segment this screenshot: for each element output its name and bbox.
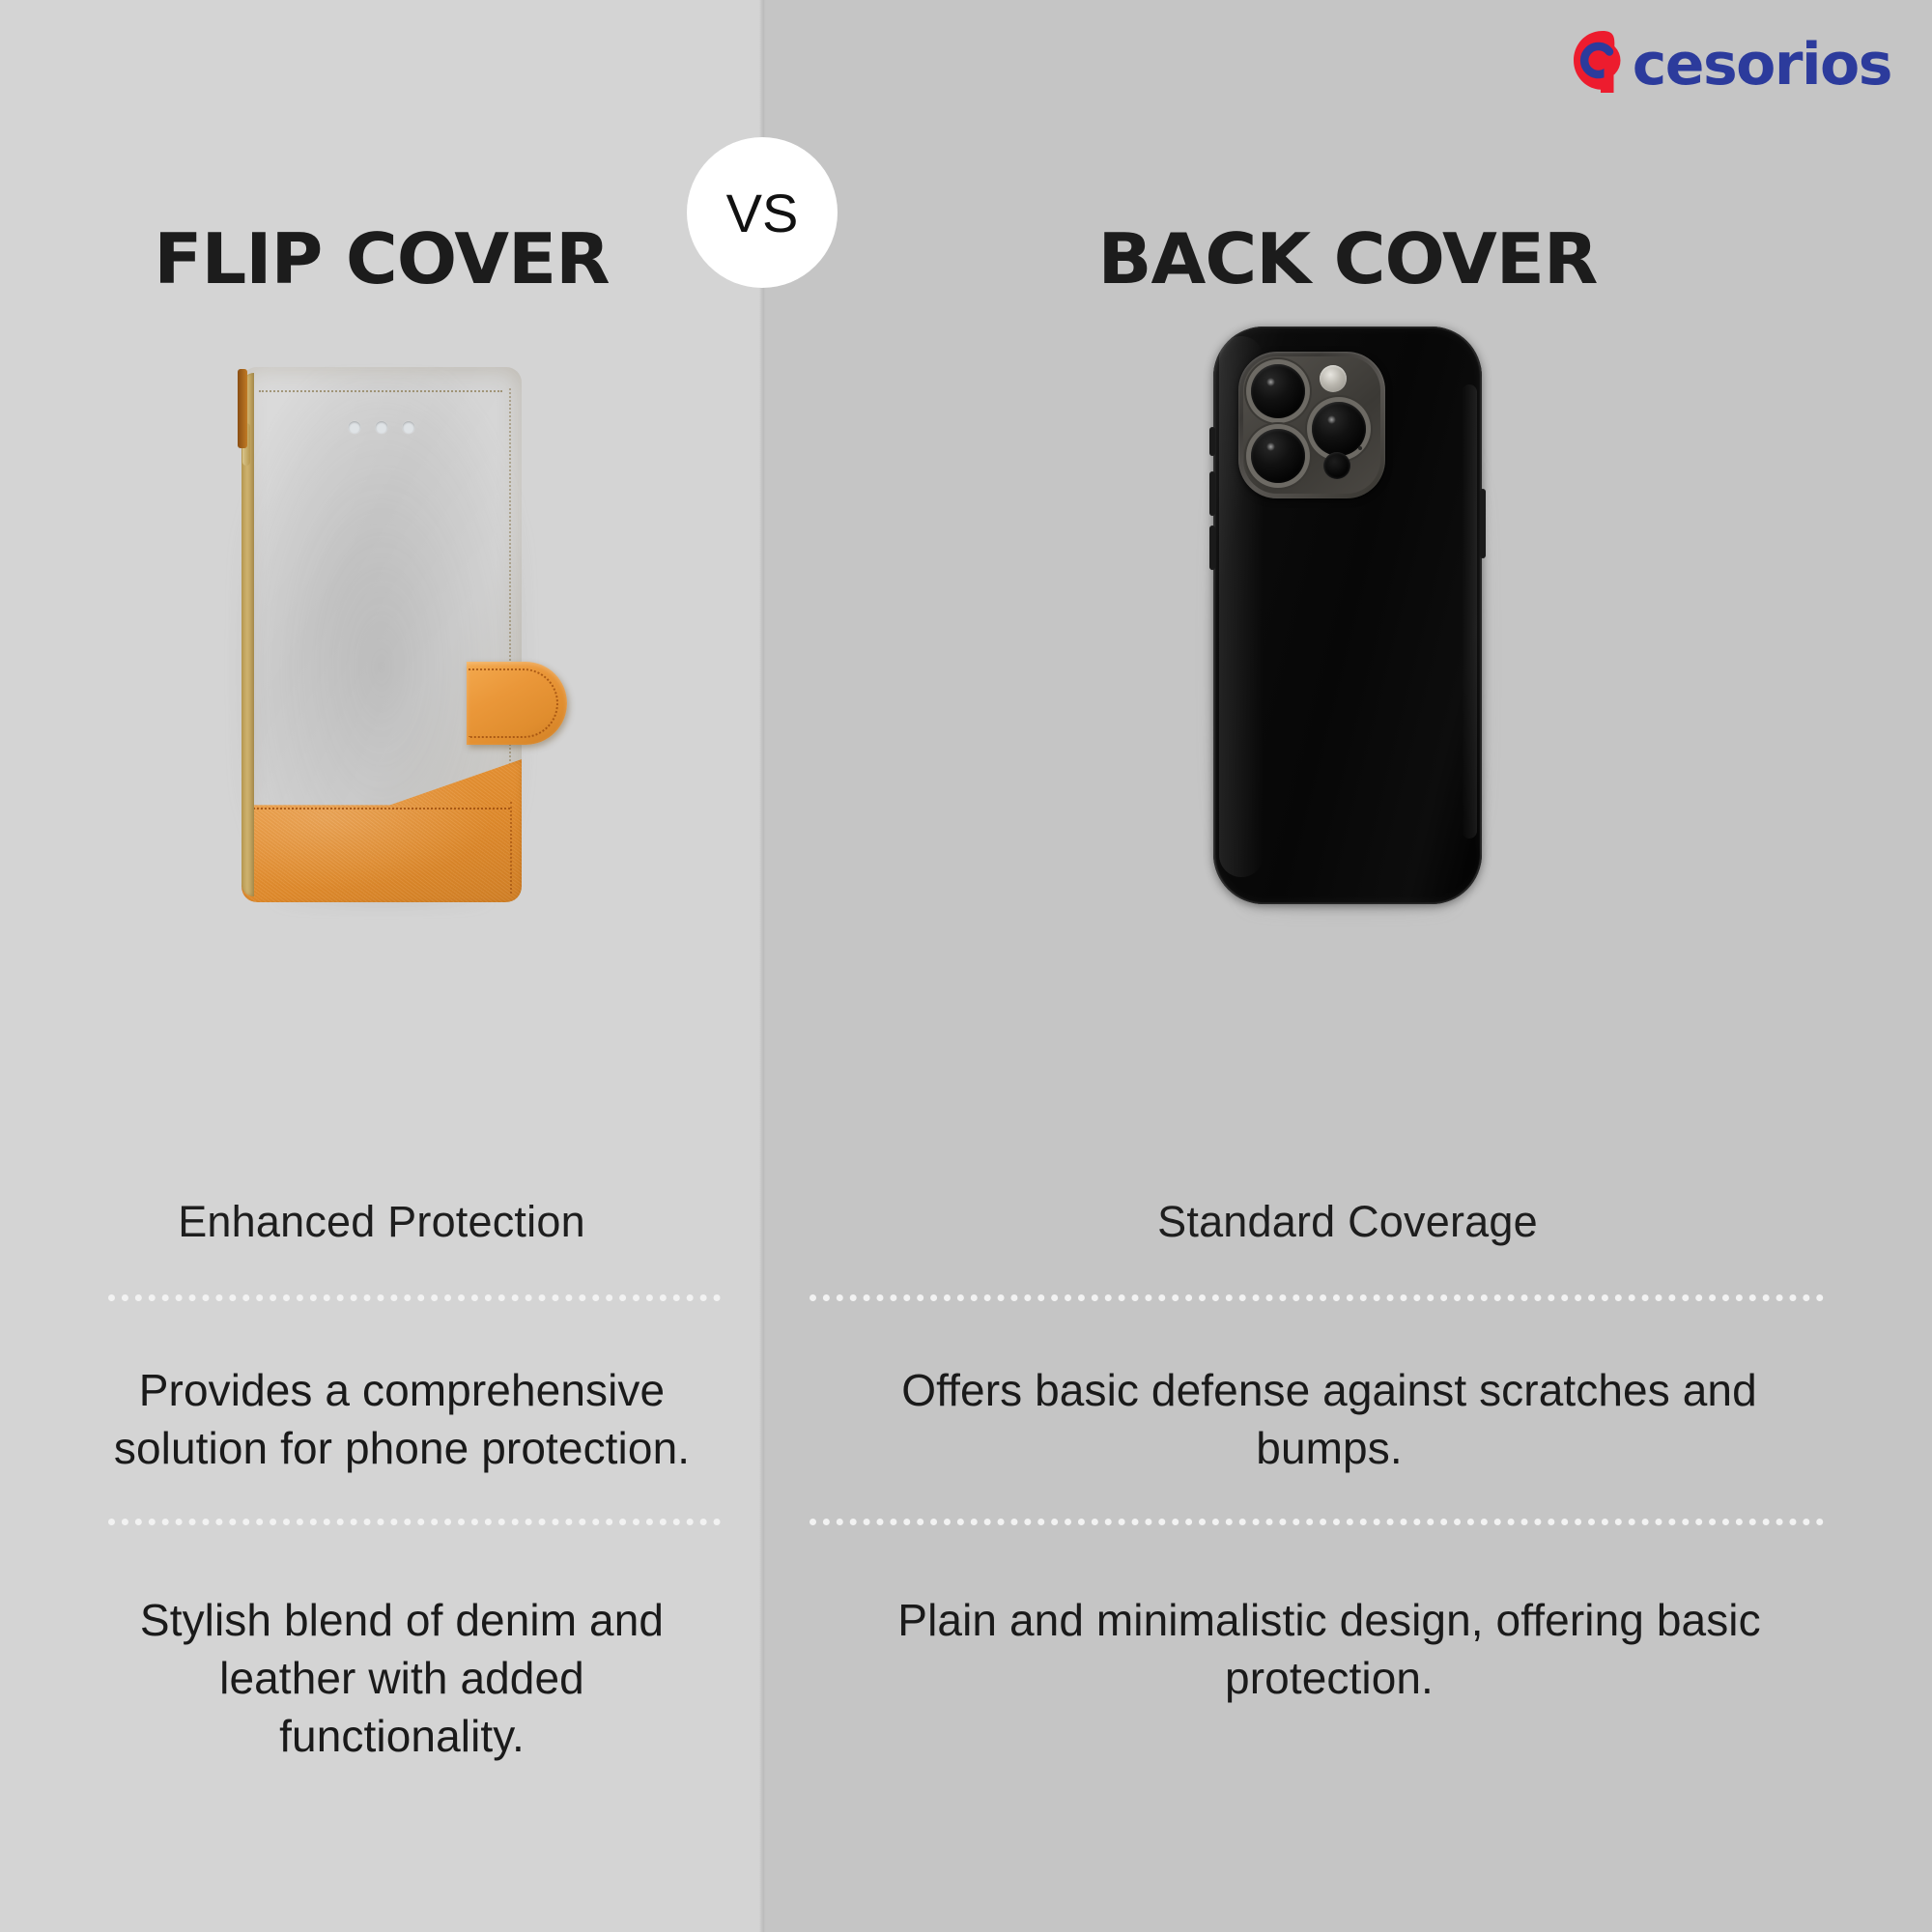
left-feature-label: Enhanced Protection <box>0 1196 763 1248</box>
right-feature-text-1: Offers basic defense against scratches a… <box>823 1362 1835 1478</box>
left-feature-text-1: Provides a comprehensive solution for ph… <box>97 1362 707 1478</box>
versus-badge-label: VS <box>726 182 799 244</box>
left-divider-bottom <box>108 1519 721 1525</box>
left-divider-top <box>108 1294 721 1301</box>
comparison-infographic: cesorios FLIP COVER BACK COVER VS <box>0 0 1932 1932</box>
right-divider-top <box>810 1294 1824 1301</box>
right-feature-text-2: Plain and minimalistic design, offering … <box>823 1592 1835 1708</box>
right-feature-label: Standard Coverage <box>763 1196 1932 1248</box>
left-feature-column: Enhanced Protection Provides a comprehen… <box>0 0 763 1932</box>
right-feature-column: Standard Coverage Offers basic defense a… <box>763 0 1932 1932</box>
right-divider-bottom <box>810 1519 1824 1525</box>
left-feature-text-2: Stylish blend of denim and leather with … <box>97 1592 707 1765</box>
versus-badge: VS <box>687 137 838 288</box>
